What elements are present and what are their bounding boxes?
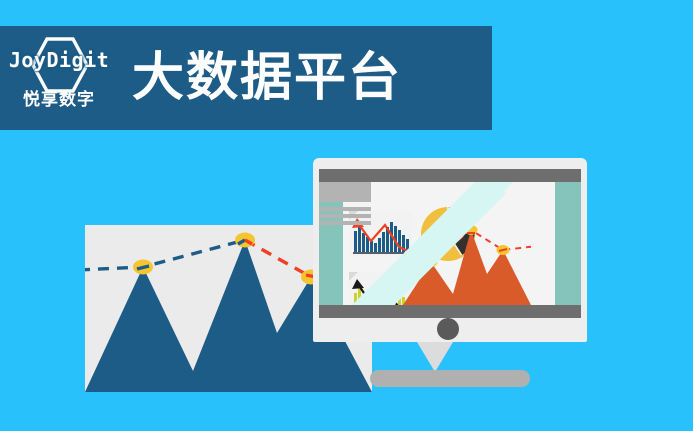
monitor-top-bar — [319, 169, 581, 182]
gray-line — [319, 221, 371, 225]
gray-line — [319, 214, 371, 218]
brand-chinese-text: 悦享数字 — [23, 85, 95, 110]
header-banner: JoyDigit 悦享数字 大数据平台 — [0, 26, 492, 130]
monitor-stand-base — [370, 370, 530, 387]
screen-strip-right — [555, 182, 581, 305]
page-title: 大数据平台 — [132, 52, 402, 104]
monitor-illustration — [313, 158, 587, 342]
brand-latin-text: JoyDigit — [9, 48, 109, 72]
monitor-stand-neck — [417, 342, 453, 372]
brand-logo: JoyDigit 悦享数字 — [0, 28, 118, 128]
mountain-area-chart[interactable] — [403, 222, 531, 305]
page-fold-icon — [349, 272, 358, 281]
power-button-icon[interactable] — [437, 318, 459, 340]
mountain-area-shape — [403, 230, 531, 305]
trend-line-left — [85, 240, 245, 270]
gray-header-block — [319, 182, 371, 202]
monitor-bottom-bar — [319, 305, 581, 318]
poster-canvas: JoyDigit 悦享数字 大数据平台 — [0, 0, 693, 431]
monitor-screen — [319, 182, 581, 305]
gray-line — [319, 207, 371, 211]
